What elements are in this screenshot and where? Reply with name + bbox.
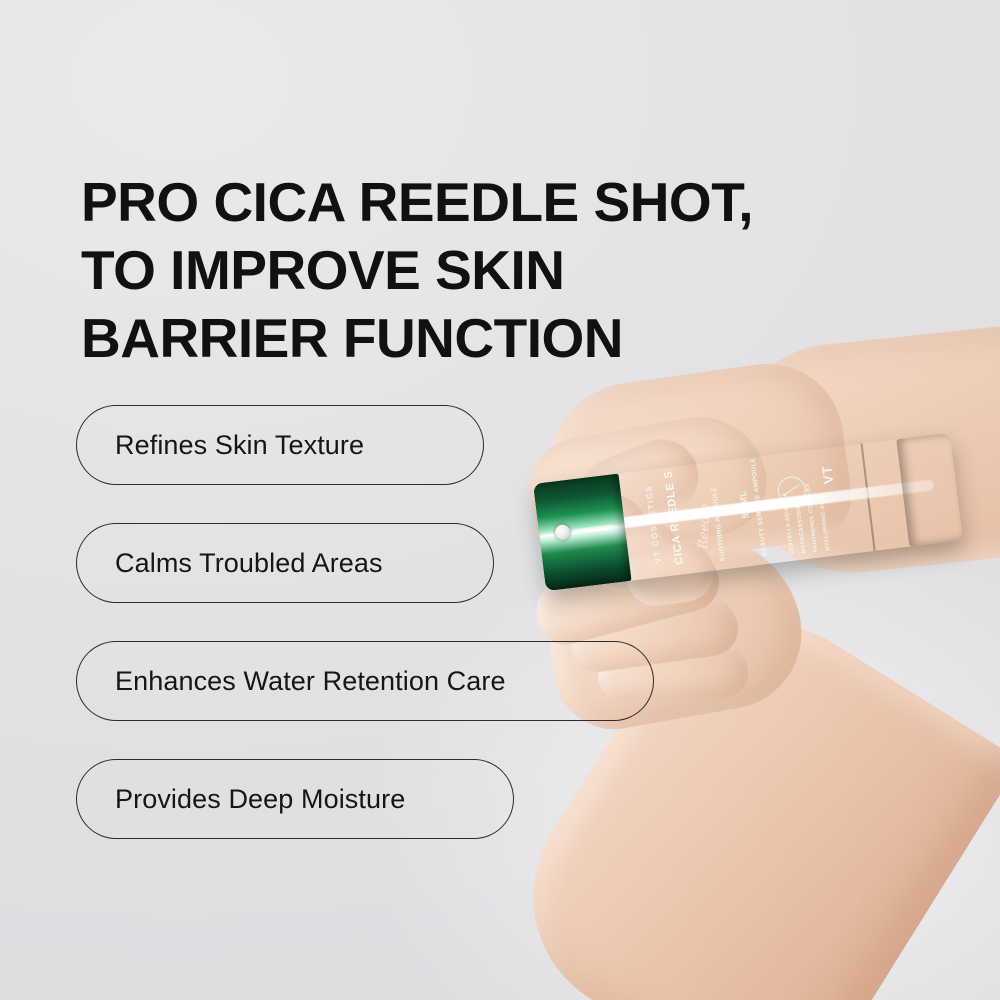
promo-image: VT COSMETICS CICA REEDLE SHOT Reedle SOO… [0,0,1000,1000]
page-title: PRO CICA REEDLE SHOT, TO IMPROVE SKIN BA… [81,168,921,372]
benefit-pill-label: Provides Deep Moisture [115,786,405,813]
headline-line-3: BARRIER FUNCTION [81,304,921,372]
background [0,0,1000,1000]
benefit-pill-enhances-water-retention-care[interactable]: Enhances Water Retention Care [76,641,654,721]
benefit-pill-label: Calms Troubled Areas [115,550,383,577]
headline-line-1: PRO CICA REEDLE SHOT, [81,168,921,236]
benefit-pill-label: Enhances Water Retention Care [115,668,506,695]
headline-line-2: TO IMPROVE SKIN [81,236,921,304]
benefit-pill-label: Refines Skin Texture [115,432,364,459]
benefit-pill-calms-troubled-areas[interactable]: Calms Troubled Areas [76,523,494,603]
benefit-pill-refines-skin-texture[interactable]: Refines Skin Texture [76,405,484,485]
benefit-pill-provides-deep-moisture[interactable]: Provides Deep Moisture [76,759,514,839]
